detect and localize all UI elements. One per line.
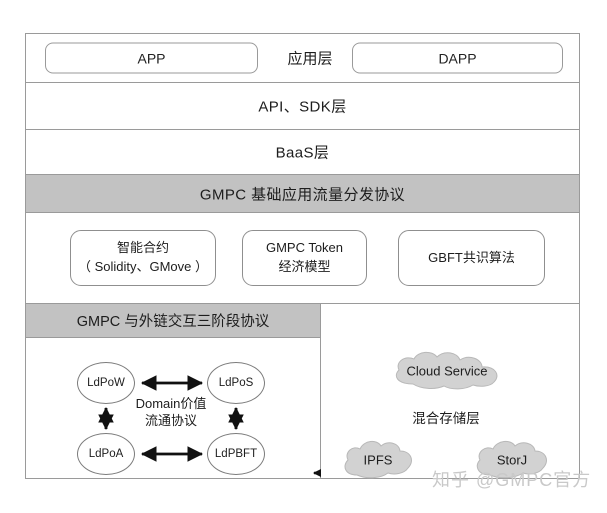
layer-baas: BaaS层 bbox=[26, 130, 579, 175]
feature-box-smart-contract-line2: （ Solidity、GMove ） bbox=[78, 258, 208, 277]
feature-box-smart-contract: 智能合约 （ Solidity、GMove ） bbox=[70, 230, 216, 286]
panel-interaction-protocol: GMPC 与外链交互三阶段协议 bbox=[26, 304, 321, 478]
layer-gmpc-protocol: GMPC 基础应用流量分发协议 bbox=[26, 175, 579, 213]
feature-box-token-model: GMPC Token 经济模型 bbox=[242, 230, 367, 286]
ipfs-label: IPFS bbox=[339, 453, 417, 468]
layer-application: APP 应用层 DAPP bbox=[26, 34, 579, 83]
dapp-pill: DAPP bbox=[352, 43, 563, 74]
watermark: 知乎 @GMPC官方 bbox=[432, 466, 591, 492]
hybrid-storage-label: 混合存储层 bbox=[381, 407, 511, 427]
gmpc-protocol-label: GMPC 基础应用流量分发协议 bbox=[26, 183, 579, 204]
application-layer-label: 应用层 bbox=[274, 48, 346, 69]
panel-hybrid-storage: Cloud Service 混合存储层 IPFS StorJ bbox=[321, 304, 579, 478]
cloud-service-label: Cloud Service bbox=[387, 364, 507, 379]
feature-box-token-model-line2: 经济模型 bbox=[278, 258, 330, 277]
cloud-service-shape: Cloud Service bbox=[387, 350, 507, 392]
feature-box-smart-contract-line1: 智能合约 bbox=[117, 239, 169, 258]
feature-box-gbft-consensus-line1: GBFT共识算法 bbox=[428, 249, 515, 268]
api-sdk-label: API、SDK层 bbox=[26, 96, 579, 117]
layer-core-features: 智能合约 （ Solidity、GMove ） GMPC Token 经济模型 … bbox=[26, 213, 579, 304]
feature-box-token-model-line1: GMPC Token bbox=[266, 239, 343, 258]
feature-box-gbft-consensus: GBFT共识算法 bbox=[398, 230, 545, 286]
layer-api-sdk: API、SDK层 bbox=[26, 83, 579, 130]
domain-value-label-line1: Domain价值 bbox=[114, 396, 228, 413]
node-ldpoa: LdPoA bbox=[77, 433, 135, 475]
node-ldpbft: LdPBFT bbox=[207, 433, 265, 475]
consensus-node-graph: LdPoW LdPoS LdPoA LdPBFT Domain价值 流通协议 bbox=[26, 338, 320, 478]
ipfs-cloud-shape: IPFS bbox=[339, 437, 417, 483]
domain-value-label: Domain价值 流通协议 bbox=[114, 396, 228, 430]
domain-value-label-line2: 流通协议 bbox=[114, 413, 228, 430]
baas-label: BaaS层 bbox=[26, 142, 579, 163]
app-pill: APP bbox=[45, 43, 258, 74]
architecture-diagram: APP 应用层 DAPP API、SDK层 BaaS层 GMPC 基础应用流量分… bbox=[25, 33, 580, 479]
bottom-section: GMPC 与外链交互三阶段协议 bbox=[26, 304, 579, 478]
interaction-protocol-header: GMPC 与外链交互三阶段协议 bbox=[26, 304, 320, 338]
